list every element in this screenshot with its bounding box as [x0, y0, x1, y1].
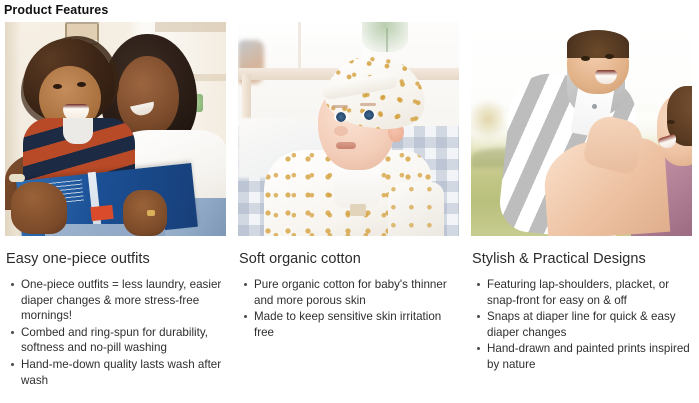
baby-hair [567, 30, 629, 58]
list-item: One-piece outfits = less laundry, easier… [20, 277, 226, 324]
houseplant [362, 22, 408, 52]
baby-nose [334, 126, 348, 136]
feature-heading-1: Easy one-piece outfits [5, 236, 226, 268]
feature-column-soft-organic-cotton: Soft organic cotton Pure organic cotton … [238, 22, 459, 389]
baby-sleeve [388, 182, 444, 236]
baby-left-eye [334, 112, 348, 122]
list-item: Pure organic cotton for baby's thinner a… [253, 277, 459, 308]
baby-right-eye [362, 110, 376, 120]
feature-image-soft-organic-cotton [238, 22, 459, 236]
mother-right-hand [123, 190, 167, 236]
product-features-grid: Easy one-piece outfits One-piece outfits… [0, 22, 699, 389]
feature-bullet-list-2: Pure organic cotton for baby's thinner a… [238, 277, 459, 340]
background-tree [471, 96, 505, 142]
garment-tag [350, 204, 366, 216]
feature-heading-3: Stylish & Practical Designs [471, 236, 692, 268]
mother-ring [147, 210, 155, 216]
list-item: Featuring lap-shoulders, placket, or sna… [486, 277, 692, 308]
mother-eye [667, 120, 675, 124]
list-item: Made to keep sensitive skin irritation f… [253, 309, 459, 340]
mother-left-hand [11, 182, 67, 234]
baby-right-eyebrow [360, 103, 376, 106]
mother-bracelet [9, 174, 25, 182]
list-item: Hand-drawn and painted prints inspired b… [486, 341, 692, 372]
toddler-right-eye [77, 82, 86, 87]
baby-left-eyebrow [332, 105, 348, 108]
feature-image-easy-one-piece-outfits [5, 22, 226, 236]
page-title: Product Features [0, 0, 699, 17]
plant-stem [386, 28, 388, 52]
feature-bullet-list-1: One-piece outfits = less laundry, easier… [5, 277, 226, 388]
feature-bullet-list-3: Featuring lap-shoulders, placket, or sna… [471, 277, 692, 373]
toddler-left-eye [53, 84, 62, 89]
window-frame-bar [298, 22, 301, 68]
book-award-badge [90, 205, 113, 221]
feature-column-easy-one-piece-outfits: Easy one-piece outfits One-piece outfits… [5, 22, 226, 389]
shelf-top [155, 22, 226, 32]
feature-column-stylish-practical-designs: Stylish & Practical Designs Featuring la… [471, 22, 692, 389]
baby-snap-2 [592, 104, 597, 109]
baby-left-eye [581, 56, 590, 61]
baby-mouth [336, 142, 356, 149]
list-item: Combed and ring-spun for durability, sof… [20, 325, 226, 356]
toddler-collar [63, 118, 93, 144]
baby-right-eye [605, 54, 614, 59]
list-item: Snaps at diaper line for quick & easy di… [486, 309, 692, 340]
feature-image-stylish-practical-designs [471, 22, 692, 236]
feature-heading-2: Soft organic cotton [238, 236, 459, 268]
list-item: Hand-me-down quality lasts wash after wa… [20, 357, 226, 388]
